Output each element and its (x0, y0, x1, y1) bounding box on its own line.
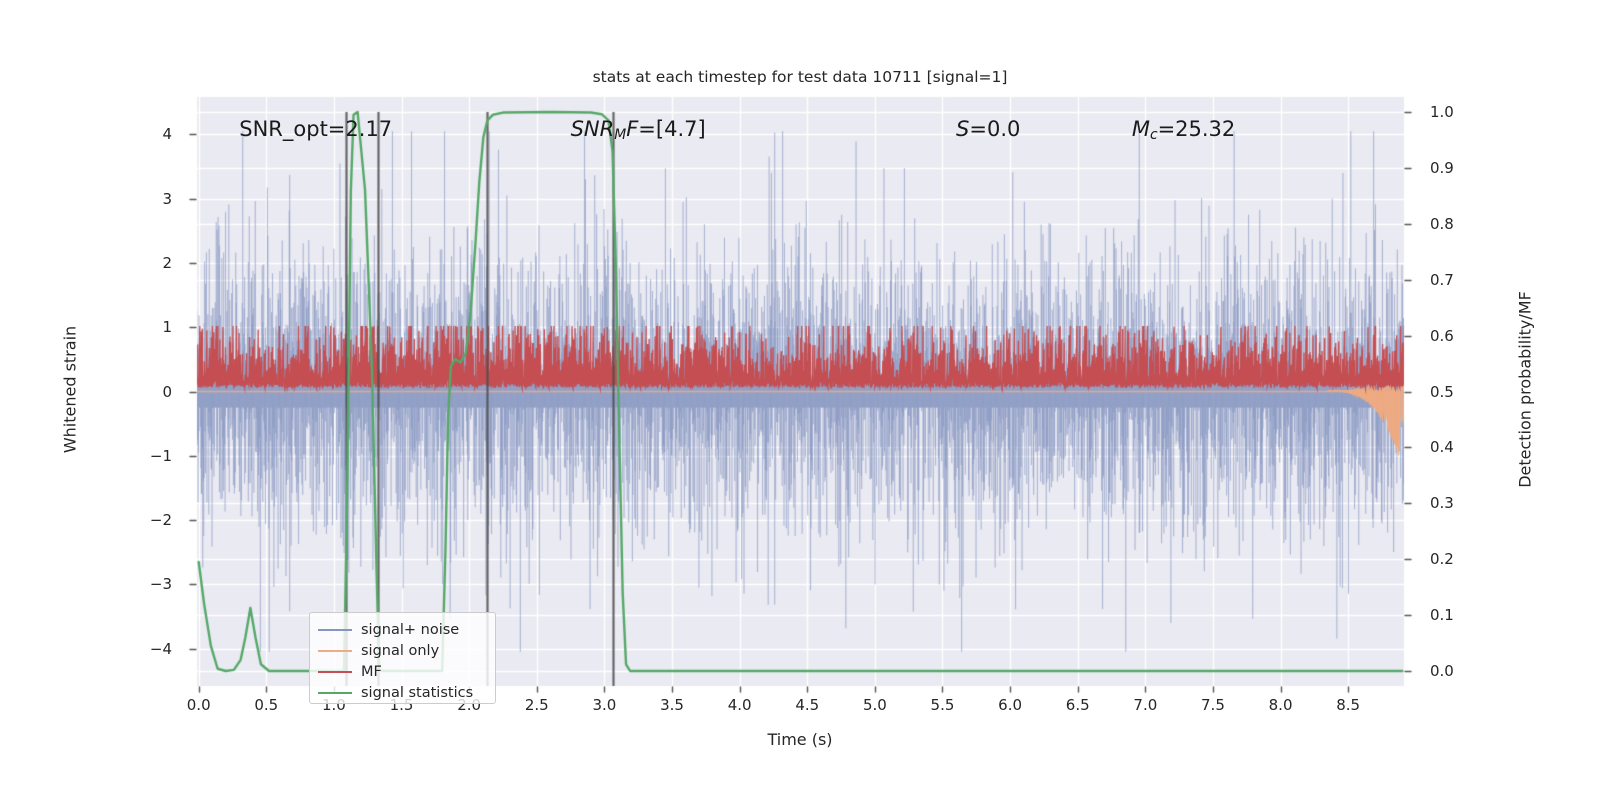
legend-color-swatch (318, 671, 352, 673)
y-tick-label-left: 1 (112, 318, 172, 336)
y-tick-label-right: 1.0 (1430, 103, 1490, 121)
chart-legend: signal+ noisesignal onlyMFsignal statist… (309, 612, 496, 704)
x-tick-label: 3.0 (574, 696, 634, 714)
x-tick-label: 4.5 (777, 696, 837, 714)
x-tick-label: 7.0 (1115, 696, 1175, 714)
legend-label: signal+ noise (361, 622, 459, 638)
y-axis-label-right: Detection probability/MF (1516, 260, 1535, 520)
legend-label: signal statistics (361, 685, 473, 701)
x-tick-label: 0.0 (169, 696, 229, 714)
y-tick-label-left: −4 (112, 640, 172, 658)
x-tick-label: 7.5 (1183, 696, 1243, 714)
legend-color-swatch (318, 692, 352, 694)
y-tick-label-left: 3 (112, 190, 172, 208)
y-tick-label-right: 0.4 (1430, 438, 1490, 456)
legend-label: MF (361, 664, 382, 680)
y-tick-label-left: −2 (112, 511, 172, 529)
y-tick-label-left: −3 (112, 575, 172, 593)
y-tick-label-right: 0.0 (1430, 662, 1490, 680)
y-tick-label-left: 0 (112, 383, 172, 401)
x-tick-label: 2.5 (507, 696, 567, 714)
y-tick-label-right: 0.8 (1430, 215, 1490, 233)
legend-color-swatch (318, 650, 352, 652)
x-tick-label: 8.5 (1318, 696, 1378, 714)
x-tick-label: 5.0 (845, 696, 905, 714)
x-tick-label: 6.0 (980, 696, 1040, 714)
annotation-s-value: S=0.0 (956, 117, 1020, 141)
legend-item: MF (318, 661, 487, 682)
y-tick-label-left: −1 (112, 447, 172, 465)
legend-label: signal only (361, 643, 439, 659)
legend-item: signal only (318, 640, 487, 661)
legend-color-swatch (318, 629, 352, 631)
y-tick-label-right: 0.3 (1430, 494, 1490, 512)
y-axis-label-left: Whitened strain (61, 260, 80, 520)
annotation-mc-value: Mc=25.32 (1132, 117, 1235, 143)
y-tick-label-right: 0.6 (1430, 327, 1490, 345)
x-axis-label: Time (s) (0, 730, 1600, 749)
annotation-snr-opt: SNR_opt=2.17 (239, 117, 392, 141)
legend-item: signal statistics (318, 682, 487, 703)
figure-canvas-area: stats at each timestep for test data 107… (0, 0, 1600, 800)
y-tick-label-right: 0.2 (1430, 550, 1490, 568)
y-tick-label-right: 0.7 (1430, 271, 1490, 289)
y-tick-label-right: 0.1 (1430, 606, 1490, 624)
legend-item: signal+ noise (318, 619, 487, 640)
y-tick-label-right: 0.5 (1430, 383, 1490, 401)
y-tick-label-right: 0.9 (1430, 159, 1490, 177)
x-tick-label: 6.5 (1048, 696, 1108, 714)
x-tick-label: 3.5 (642, 696, 702, 714)
x-tick-label: 8.0 (1251, 696, 1311, 714)
x-tick-label: 0.5 (236, 696, 296, 714)
x-tick-label: 4.0 (710, 696, 770, 714)
chart-title: stats at each timestep for test data 107… (0, 68, 1600, 86)
y-tick-label-left: 2 (112, 254, 172, 272)
y-tick-label-left: 4 (112, 125, 172, 143)
x-tick-label: 5.5 (912, 696, 972, 714)
annotation-snr-mf: SNRMF=[4.7] (571, 117, 706, 143)
